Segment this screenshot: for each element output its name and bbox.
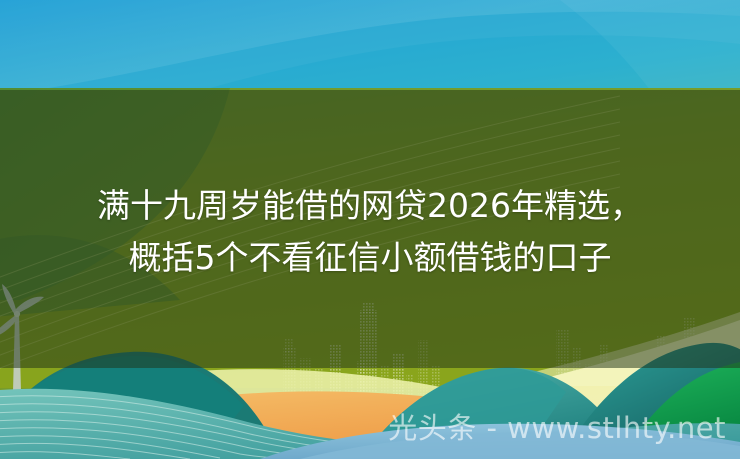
site-watermark: 光头条 - www.stlhty.net [388, 405, 726, 447]
title-line-1: 满十九周岁能借的网贷2026年精选， [0, 180, 740, 232]
article-cover-image: 满十九周岁能借的网贷2026年精选， 概括5个不看征信小额借钱的口子 光头条 -… [0, 0, 740, 459]
title-line-2: 概括5个不看征信小额借钱的口子 [0, 232, 740, 284]
page-title: 满十九周岁能借的网贷2026年精选， 概括5个不看征信小额借钱的口子 [0, 180, 740, 284]
